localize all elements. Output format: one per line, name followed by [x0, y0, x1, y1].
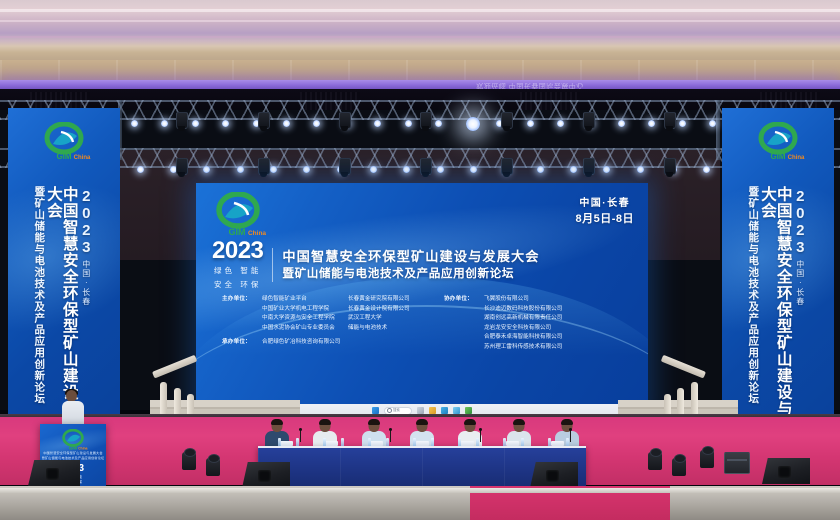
host-col2-item: 储能与电池技术 [348, 324, 434, 334]
moving-head-floor-light [648, 452, 662, 470]
coorganizer-row: 长沙迪迈数码科技股份有限公司 [444, 305, 630, 315]
ceiling-cove-line [0, 36, 840, 38]
moving-head-fixture [339, 112, 351, 129]
participant-hair [319, 419, 331, 425]
organizer-value: 合肥绿色矿冶科技咨询有限公司 [262, 338, 434, 348]
coorganizer-item: 苏州理工雷科传感技术有限公司 [484, 343, 630, 353]
water-bottle [323, 438, 326, 446]
ceiling-cove-line [0, 9, 840, 12]
event-year-block: 2023 绿色 智能 安全 环保 [212, 239, 263, 291]
equipment-road-case [724, 452, 750, 474]
host-label-spacer [222, 324, 262, 334]
moving-head-row-upper [0, 112, 840, 128]
svg-text:China: China [248, 230, 266, 237]
moving-head-floor-light [182, 452, 196, 470]
moving-head-floor-light [672, 458, 686, 476]
event-title-line-1: 中国智慧安全环保型矿山建设与发展大会 [282, 249, 632, 266]
event-dates: 8月5日-8日 [575, 212, 634, 228]
participant-hair [271, 419, 283, 425]
coorganizer-item: 长沙迪迈数码科技股份有限公司 [484, 305, 630, 315]
participant-hair [368, 419, 380, 425]
coorganizer-label-spacer [444, 314, 484, 324]
side-banner-place: 中国·长春 [81, 260, 92, 306]
podium-title-line-2: 暨矿山储能与电池技术及产品应用创新论坛 [40, 456, 106, 460]
table-microphone [300, 430, 301, 442]
moving-head-fixture [420, 158, 432, 175]
balustrade-post [691, 382, 698, 416]
coorganizer-item: 合肥泰禾卓海智能科技有限公司 [484, 333, 630, 343]
event-year: 2023 [212, 239, 263, 263]
event-slogan-line-2: 安全 环保 [212, 280, 263, 291]
coorganizer-label-spacer [444, 305, 484, 315]
start-icon[interactable] [372, 407, 379, 414]
moving-head-fixture [501, 158, 513, 175]
moving-head-row-lower [0, 158, 840, 174]
stage-monitor-wedge [242, 462, 290, 488]
coorganizer-label: 协办单位： [444, 295, 484, 305]
event-title-row: 2023 绿色 智能 安全 环保 中国智慧安全环保型矿山建设与发展大会 暨矿山储… [212, 239, 632, 291]
svg-text:GIM: GIM [770, 152, 785, 161]
host-col1-item: 绿色智能矿业平台 [262, 295, 348, 305]
participant-hair [561, 419, 573, 425]
delegate-nameplate [370, 441, 383, 446]
water-bottle [431, 438, 434, 446]
coorganizer-column: 协办单位： 飞翼股份有限公司 长沙迪迈数码科技股份有限公司 湖南创远高新机械有限… [444, 295, 630, 353]
organizer-row: 承办单位： 合肥绿色矿冶科技咨询有限公司 [222, 338, 434, 348]
side-banner-year: 2023 [78, 188, 95, 256]
moving-head-fixture [339, 158, 351, 175]
host-label-spacer [222, 314, 262, 324]
delegate-nameplate [551, 441, 564, 446]
stage-photograph: 欢迎莅临 中国长春国际会展中心 GIM China 2023 中国·长春 [0, 0, 840, 520]
title-divider [272, 248, 273, 282]
moving-head-fixture [501, 112, 513, 129]
coorganizer-item: 飞翼股份有限公司 [484, 295, 630, 305]
host-col2-item: 长春黄金研究院有限公司 [348, 295, 434, 305]
host-col2-item: 长春黄金设计院有限公司 [348, 305, 434, 315]
gim-logo-icon: GIM China [751, 122, 805, 167]
stage-monitor-wedge [530, 462, 578, 488]
svg-text:GIM: GIM [229, 227, 246, 237]
event-slogan-line-1: 绿色 智能 [212, 266, 263, 277]
delegate-nameplate [280, 441, 293, 446]
host-row: 主办单位： 绿色智能矿业平台 长春黄金研究院有限公司 [222, 295, 434, 305]
ceiling-stone-band [0, 60, 840, 82]
stage-monitor-wedge [762, 458, 810, 484]
water-bottle [386, 438, 389, 446]
file-explorer-icon[interactable] [429, 407, 436, 414]
svg-text:GIM: GIM [56, 152, 71, 161]
svg-text:China: China [74, 155, 91, 161]
water-bottle [296, 438, 299, 446]
stage-monitor-wedge [28, 460, 80, 486]
moving-head-floor-light [206, 458, 220, 476]
main-led-screen: GIM China 中国·长春 8月5日-8日 2023 绿色 智能 安全 环保… [196, 183, 648, 417]
host-row: 中国矿业大学机电工程学院 长春黄金设计院有限公司 [222, 305, 434, 315]
svg-text:China: China [78, 446, 87, 450]
search-placeholder: 搜索 [393, 409, 400, 412]
moving-head-fixture [176, 112, 188, 129]
water-bottle [458, 438, 461, 446]
delegate-nameplate [461, 441, 474, 446]
participant-hair [464, 419, 476, 425]
event-city: 中国·长春 [575, 197, 634, 212]
speaker-person [62, 390, 84, 428]
search-icon [387, 408, 392, 413]
event-title-line-2: 暨矿山储能与电池技术及产品应用创新论坛 [282, 266, 632, 281]
host-col1-item: 中国矿业大学机电工程学院 [262, 305, 348, 315]
host-col2-item: 武汉工程大学 [348, 314, 434, 324]
moving-head-fixture [258, 112, 270, 129]
moving-head-fixture [258, 158, 270, 175]
podium-title-line-1: 中国智慧安全环保型矿山建设与发展大会 [40, 451, 106, 455]
delegate-nameplate [416, 441, 429, 446]
coorganizer-row: 合肥泰禾卓海智能科技有限公司 [444, 333, 630, 343]
water-bottle [341, 438, 344, 446]
moving-head-floor-light [700, 450, 714, 468]
table-microphone [570, 430, 571, 442]
moving-head-fixture [176, 158, 188, 175]
coorganizer-item: 龙岩龙安安全科技有限公司 [484, 324, 630, 334]
table-microphone [390, 430, 391, 442]
edge-icon[interactable] [441, 407, 448, 414]
side-banner-place: 中国·长春 [795, 260, 806, 306]
water-bottle [278, 438, 281, 446]
table-microphone [480, 430, 481, 442]
side-banner-right: GIM China 2023 中国·长春 中国智慧安全环保型矿山建设与发展大会 … [722, 108, 834, 460]
host-row: 中南大学资源与安全工程学院 武汉工程大学 [222, 314, 434, 324]
svg-text:GIM: GIM [69, 445, 78, 450]
organizer-label: 承办单位： [222, 338, 262, 348]
coorganizer-label-spacer [444, 324, 484, 334]
moving-head-fixture [420, 112, 432, 129]
ceiling [0, 0, 840, 64]
host-row: 中国水泥协会矿山专业委员会 储能与电池技术 [222, 324, 434, 334]
task-view-icon[interactable] [417, 407, 424, 414]
host-col1-item: 中国水泥协会矿山专业委员会 [262, 324, 348, 334]
coorganizer-label-spacer [444, 333, 484, 343]
moving-head-fixture [664, 158, 676, 175]
side-banner-year: 2023 [792, 188, 809, 256]
coorganizer-item: 湖南创远高新机械有限责任公司 [484, 314, 630, 324]
water-bottle [503, 438, 506, 446]
gim-logo-icon: GIM China [207, 192, 269, 243]
host-label: 主办单位： [222, 295, 262, 305]
host-col1-item: 中南大学资源与安全工程学院 [262, 314, 348, 324]
water-bottle [413, 438, 416, 446]
participant-hair [416, 419, 428, 425]
water-bottle [566, 438, 569, 446]
delegate-nameplate [506, 441, 519, 446]
mail-icon[interactable] [453, 407, 460, 414]
water-bottle [368, 438, 371, 446]
event-title-text: 中国智慧安全环保型矿山建设与发展大会 暨矿山储能与电池技术及产品应用创新论坛 [282, 249, 632, 282]
event-location-block: 中国·长春 8月5日-8日 [575, 197, 634, 227]
svg-text:China: China [788, 155, 805, 161]
water-bottle [476, 438, 479, 446]
host-label-spacer [222, 305, 262, 315]
host-sponsor-column: 主办单位： 绿色智能矿业平台 长春黄金研究院有限公司 中国矿业大学机电工程学院 … [222, 295, 434, 353]
participant-hair [513, 419, 525, 425]
sponsor-block: 主办单位： 绿色智能矿业平台 长春黄金研究院有限公司 中国矿业大学机电工程学院 … [222, 295, 630, 353]
coorganizer-row: 龙岩龙安安全科技有限公司 [444, 324, 630, 334]
water-bottle [548, 438, 551, 446]
coorganizer-label-spacer [444, 343, 484, 353]
coorganizer-row: 协办单位： 飞翼股份有限公司 [444, 295, 630, 305]
moving-head-fixture [664, 112, 676, 129]
foreground-step-edge [0, 488, 840, 493]
moving-head-fixture [583, 112, 595, 129]
coorganizer-row: 湖南创远高新机械有限责任公司 [444, 314, 630, 324]
moving-head-fixture [583, 158, 595, 175]
water-bottle [521, 438, 524, 446]
ceiling-cove-line [0, 20, 840, 22]
gim-logo-icon: GIM China [37, 122, 91, 167]
coorganizer-row: 苏州理工雷科传感技术有限公司 [444, 343, 630, 353]
delegate-nameplate [325, 441, 338, 446]
store-icon[interactable] [465, 407, 472, 414]
balustrade-post [160, 382, 167, 416]
